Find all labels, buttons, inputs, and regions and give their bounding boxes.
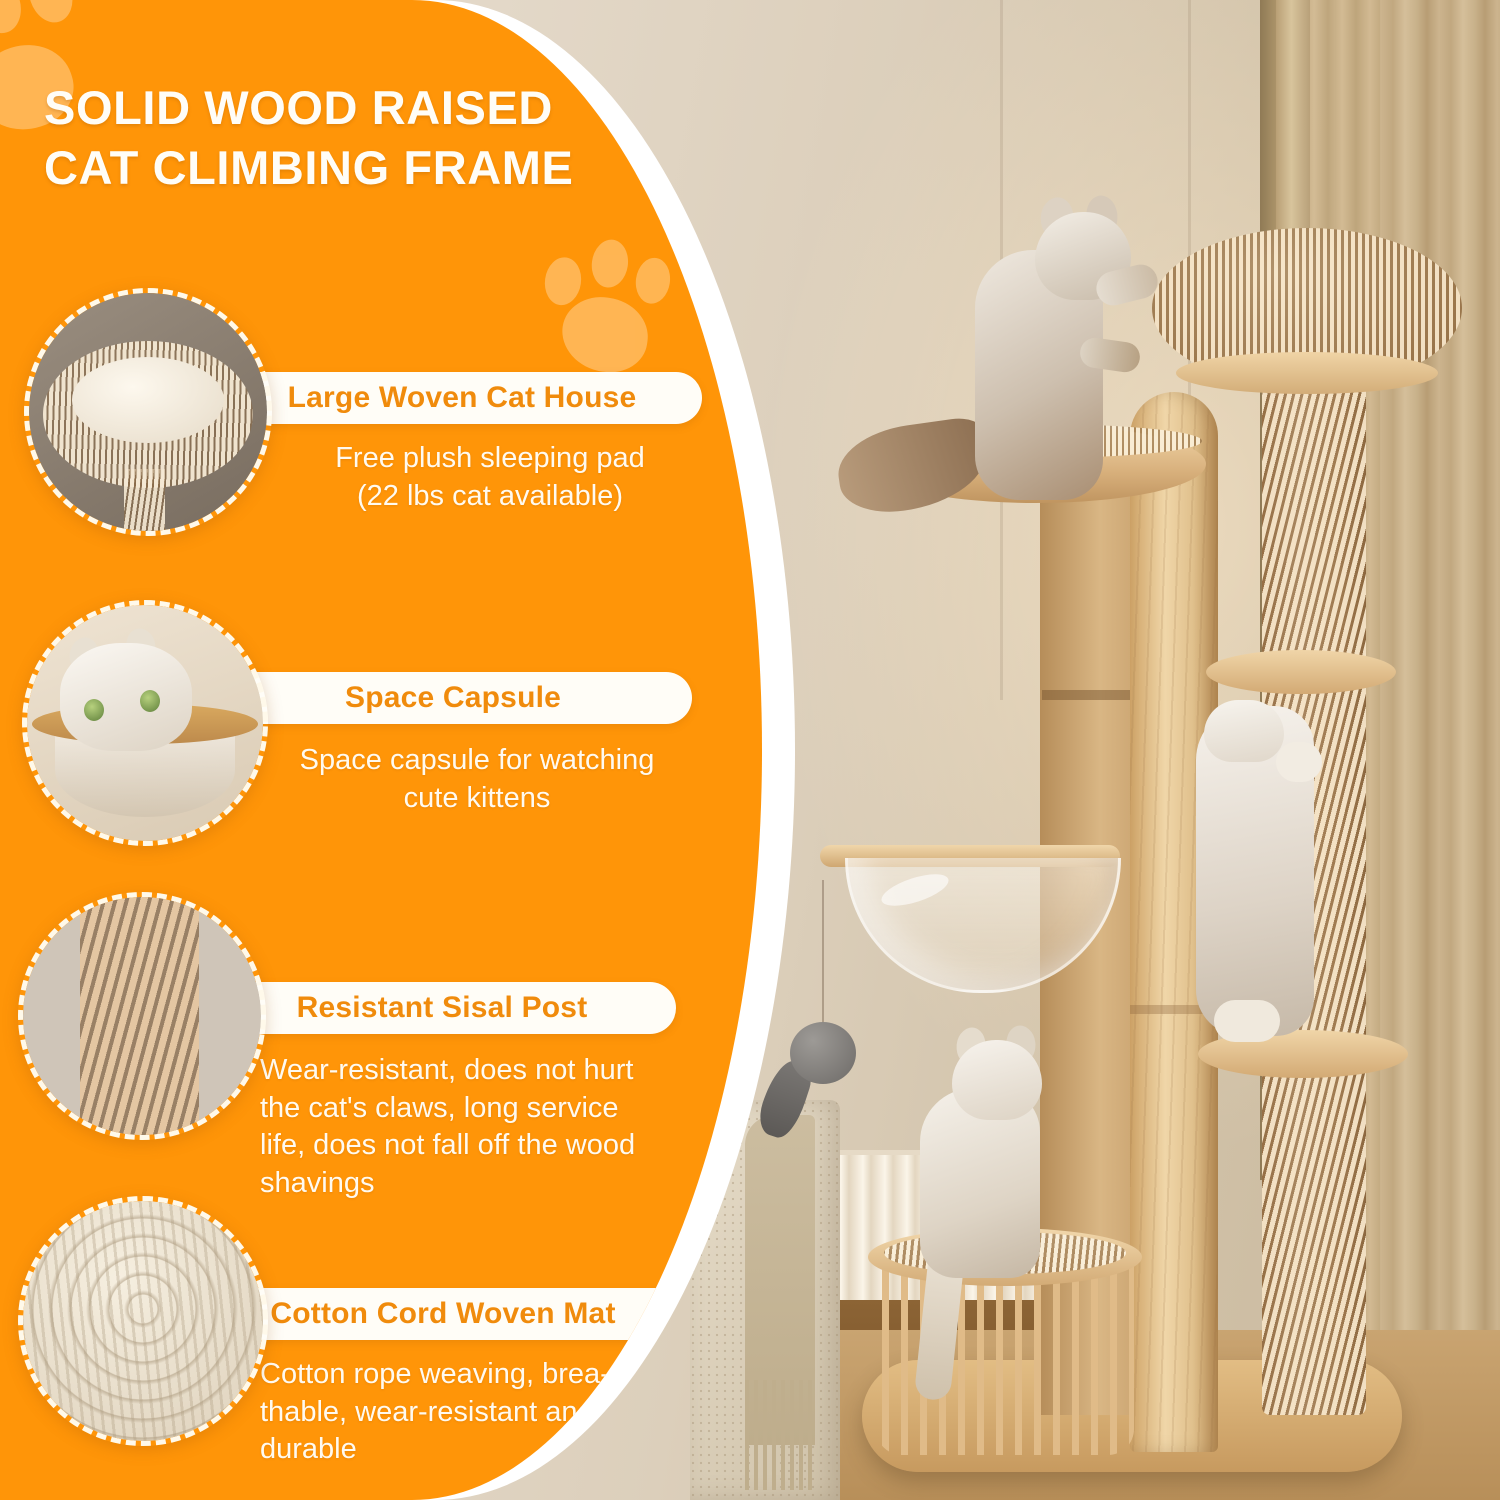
cat-head: [1204, 700, 1284, 762]
desc-line: shavings: [260, 1165, 690, 1203]
page-title: SOLID WOOD RAISED CAT CLIMBING FRAME: [44, 78, 704, 198]
desc-line: Cotton rope weaving, brea-: [260, 1356, 690, 1394]
thumbnail-image-cotton-woven-mat: [23, 1201, 263, 1441]
desc-line: Wear-resistant, does not hurt: [260, 1052, 690, 1090]
cat-head: [952, 1040, 1042, 1120]
infographic-canvas: SOLID WOOD RAISED CAT CLIMBING FRAME Lar…: [0, 0, 1500, 1500]
desc-line: Free plush sleeping pad: [290, 440, 690, 478]
desc-line: durable: [260, 1431, 690, 1469]
feature-label-3: Resistant Sisal Post: [297, 991, 588, 1025]
feature-description-2: Space capsule for watching cute kittens: [262, 742, 692, 817]
thumbnail-image-space-capsule-kitten: [27, 605, 263, 841]
thumbnail-image-sisal-post: [23, 897, 261, 1135]
screw: [1148, 975, 1157, 984]
upper-shelf: [1206, 650, 1396, 694]
thumbnail-image-woven-cat-bed: [29, 293, 267, 531]
desc-line: cute kittens: [262, 780, 692, 818]
info-panel-wrapper: SOLID WOOD RAISED CAT CLIMBING FRAME Lar…: [0, 0, 800, 1500]
feature-label-pill-1: Large Woven Cat House: [222, 372, 702, 424]
info-panel: SOLID WOOD RAISED CAT CLIMBING FRAME Lar…: [0, 0, 762, 1500]
desc-line: the cat's claws, long service: [260, 1090, 690, 1128]
feature-description-4: Cotton rope weaving, brea- thable, wear-…: [260, 1356, 690, 1469]
paw-print-icon: [531, 227, 689, 385]
feature-thumbnail-2: [22, 600, 268, 846]
title-line-2: CAT CLIMBING FRAME: [44, 138, 704, 198]
feature-thumbnail-3: [18, 892, 266, 1140]
title-line-1: SOLID WOOD RAISED: [44, 78, 704, 138]
cat-hind-paw: [1214, 1000, 1280, 1042]
feature-label-pill-3: Resistant Sisal Post: [208, 982, 676, 1034]
cat-paw: [1276, 742, 1322, 782]
feature-label-pill-4: Cotton Cord Woven Mat: [206, 1288, 680, 1340]
feature-thumbnail-4: [18, 1196, 268, 1446]
desc-line: Space capsule for watching: [262, 742, 692, 780]
feature-label-4: Cotton Cord Woven Mat: [270, 1297, 615, 1331]
toy-string: [822, 880, 824, 1030]
feature-label-2: Space Capsule: [345, 681, 561, 715]
feature-description-1: Free plush sleeping pad (22 lbs cat avai…: [290, 440, 690, 515]
desc-line: (22 lbs cat available): [290, 478, 690, 516]
desc-line: thable, wear-resistant and: [260, 1394, 690, 1432]
feature-description-3: Wear-resistant, does not hurt the cat's …: [260, 1052, 690, 1203]
desc-line: life, does not fall off the wood: [260, 1127, 690, 1165]
feature-thumbnail-1: [24, 288, 272, 536]
dome-support-plate: [1176, 352, 1438, 394]
feature-label-pill-2: Space Capsule: [214, 672, 692, 724]
feature-label-1: Large Woven Cat House: [288, 381, 637, 415]
screw: [1148, 935, 1157, 944]
